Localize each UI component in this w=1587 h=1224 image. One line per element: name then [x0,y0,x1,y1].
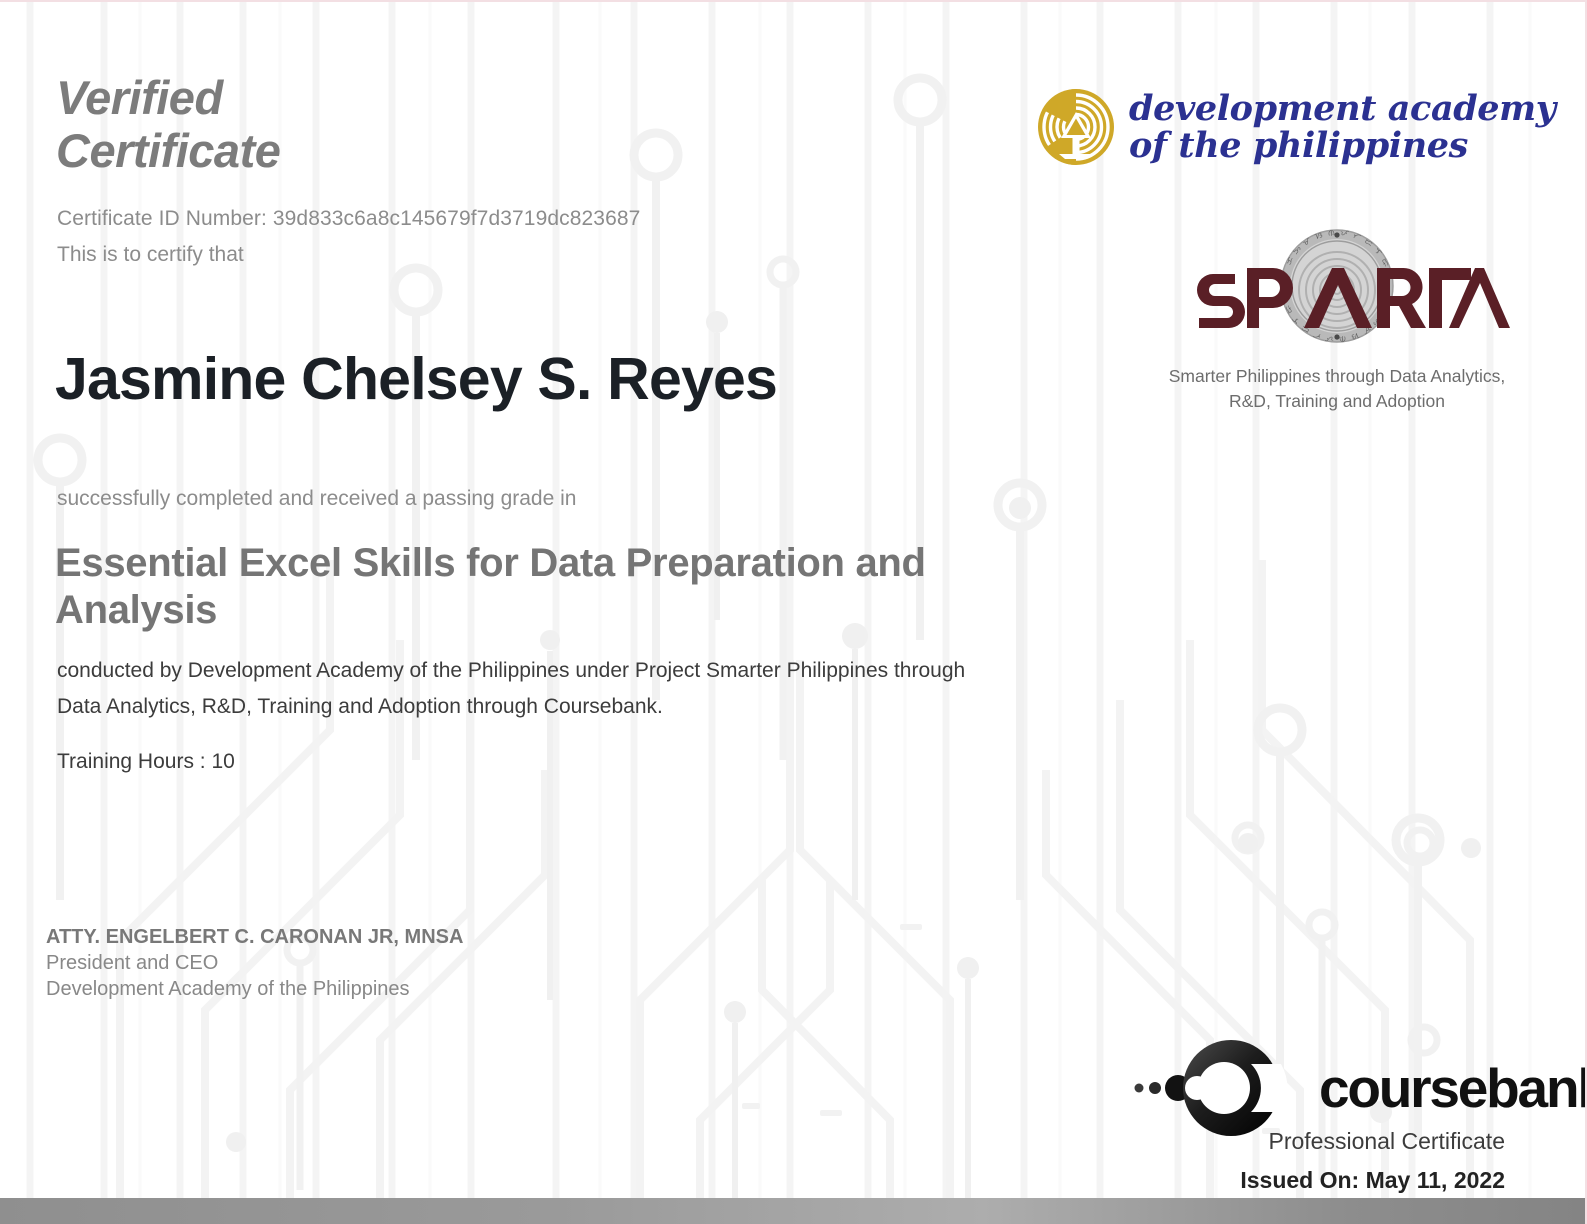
coursebank-c-orbit-icon [1131,1036,1313,1140]
certificate-page: Verified Certificate Certificate ID Numb… [0,0,1587,1224]
signatory-role: President and CEO [46,950,466,976]
conducted-by-statement: conducted by Development Academy of the … [57,653,992,725]
recipient-name: Jasmine Chelsey S. Reyes [55,345,777,413]
issued-on-date: Issued On: May 11, 2022 [1240,1167,1505,1194]
coursebank-wordmark: coursebank [1319,1056,1587,1120]
signatory-name: ATTY. ENGELBERT C. CARONAN JR, MNSA [46,925,466,950]
page-title: Verified Certificate [56,72,280,177]
svg-text:ᜈ: ᜈ [1328,228,1336,238]
sparta-tagline: Smarter Philippines through Data Analyti… [1163,364,1511,415]
certify-statement: This is to certify that [57,243,244,267]
dap-concentric-triangle-icon [1037,86,1115,168]
course-title: Essential Excel Skills for Data Preparat… [55,540,985,634]
signatory-organization: Development Academy of the Philippines [46,976,466,1002]
certificate-type: Professional Certificate [1269,1128,1506,1155]
dap-logo: development academy of the philippines [1037,86,1556,168]
svg-text:ᜉ: ᜉ [1340,228,1350,238]
dap-wordmark: development academy of the philippines [1129,90,1556,164]
passing-grade-statement: successfully completed and received a pa… [57,487,576,511]
certificate-id: Certificate ID Number: 39d833c6a8c145679… [57,207,640,231]
signatory-block: ATTY. ENGELBERT C. CARONAN JR, MNSA Pres… [46,925,466,1002]
sparta-circular-seal-icon: ᜃ ᜅ ᜋ ᜐ ᜈ ᜉ ᜆ ᜇ ᜎ ᜍ ᜃ ᜅ ᜋ [1163,228,1511,356]
svg-text:ᜉ: ᜉ [1324,334,1334,344]
footer-bar [0,1198,1587,1224]
training-hours: Training Hours : 10 [57,750,235,774]
sparta-logo: ᜃ ᜅ ᜋ ᜐ ᜈ ᜉ ᜆ ᜇ ᜎ ᜍ ᜃ ᜅ ᜋ [1163,228,1511,415]
svg-text:ᜈ: ᜈ [1339,334,1347,344]
coursebank-logo: coursebank [1131,1036,1587,1140]
